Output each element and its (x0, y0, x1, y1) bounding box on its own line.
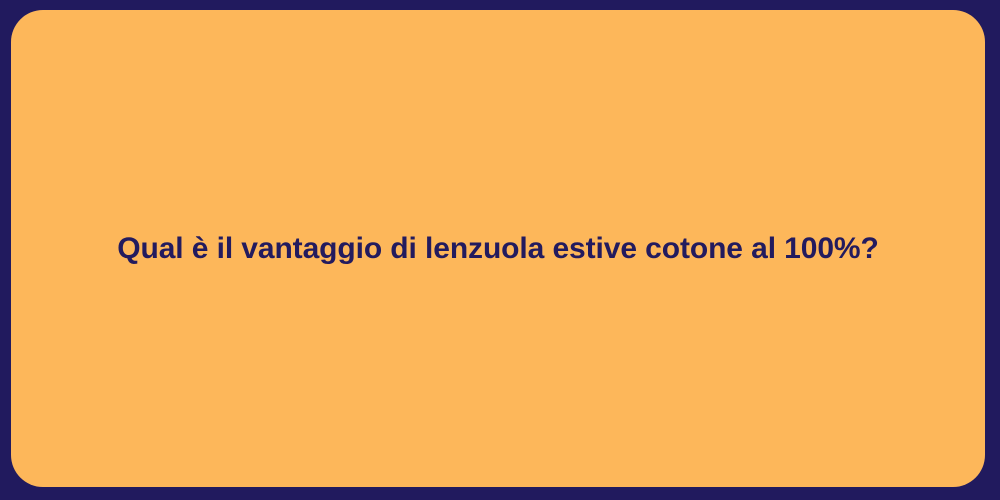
banner-headline: Qual è il vantaggio di lenzuola estive c… (117, 229, 878, 268)
headline-container: Qual è il vantaggio di lenzuola estive c… (11, 229, 985, 268)
banner-panel: Qual è il vantaggio di lenzuola estive c… (11, 10, 985, 487)
banner-frame: Qual è il vantaggio di lenzuola estive c… (0, 0, 1000, 500)
